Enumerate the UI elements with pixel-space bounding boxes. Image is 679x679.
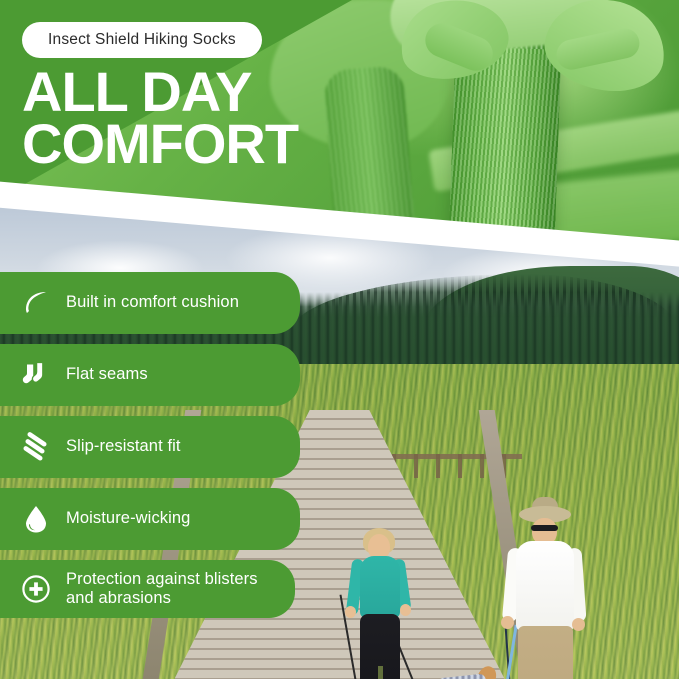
man-sunglasses bbox=[531, 525, 558, 531]
man-hand-left bbox=[501, 616, 514, 629]
woman-torso-teal-shirt bbox=[360, 556, 400, 618]
feature-item-moisture-wicking: Moisture-wicking bbox=[0, 488, 300, 550]
feature-list: Built in comfort cushion Flat seams bbox=[0, 272, 320, 628]
woman-hand-right bbox=[400, 604, 411, 616]
feature-item-blister-protection: Protection against blisters and abrasion… bbox=[0, 560, 295, 618]
headline-line-2: COMFORT bbox=[22, 118, 298, 170]
feature-label: Built in comfort cushion bbox=[66, 293, 239, 312]
man-torso-white-shirt bbox=[516, 541, 574, 631]
product-name-badge: Insect Shield Hiking Socks bbox=[22, 22, 262, 58]
feature-item-flat-seams: Flat seams bbox=[0, 344, 300, 406]
woman-hand-left bbox=[345, 606, 356, 618]
woman-leg-gap bbox=[378, 666, 383, 679]
droplet-icon bbox=[16, 499, 56, 539]
feature-label: Moisture-wicking bbox=[66, 509, 190, 528]
feature-item-comfort-cushion: Built in comfort cushion bbox=[0, 272, 300, 334]
product-infographic: Insect Shield Hiking Socks ALL DAY COMFO… bbox=[0, 0, 679, 679]
plus-circle-icon bbox=[16, 569, 56, 609]
man-legs-khaki-pants bbox=[518, 626, 573, 679]
feature-label: Slip-resistant fit bbox=[66, 437, 181, 456]
feature-label-line-2: and abrasions bbox=[66, 589, 171, 607]
product-name-label: Insect Shield Hiking Socks bbox=[48, 31, 236, 49]
leaf-icon bbox=[16, 283, 56, 323]
feature-item-slip-resistant: Slip-resistant fit bbox=[0, 416, 300, 478]
stripes-icon bbox=[16, 427, 56, 467]
feature-label: Flat seams bbox=[66, 365, 148, 384]
page-title: ALL DAY COMFORT bbox=[22, 66, 298, 170]
feature-label: Protection against blisters and abrasion… bbox=[66, 570, 258, 609]
feature-label-line-1: Protection against blisters bbox=[66, 570, 258, 588]
socks-icon bbox=[16, 355, 56, 395]
man-hand-right bbox=[572, 618, 585, 631]
